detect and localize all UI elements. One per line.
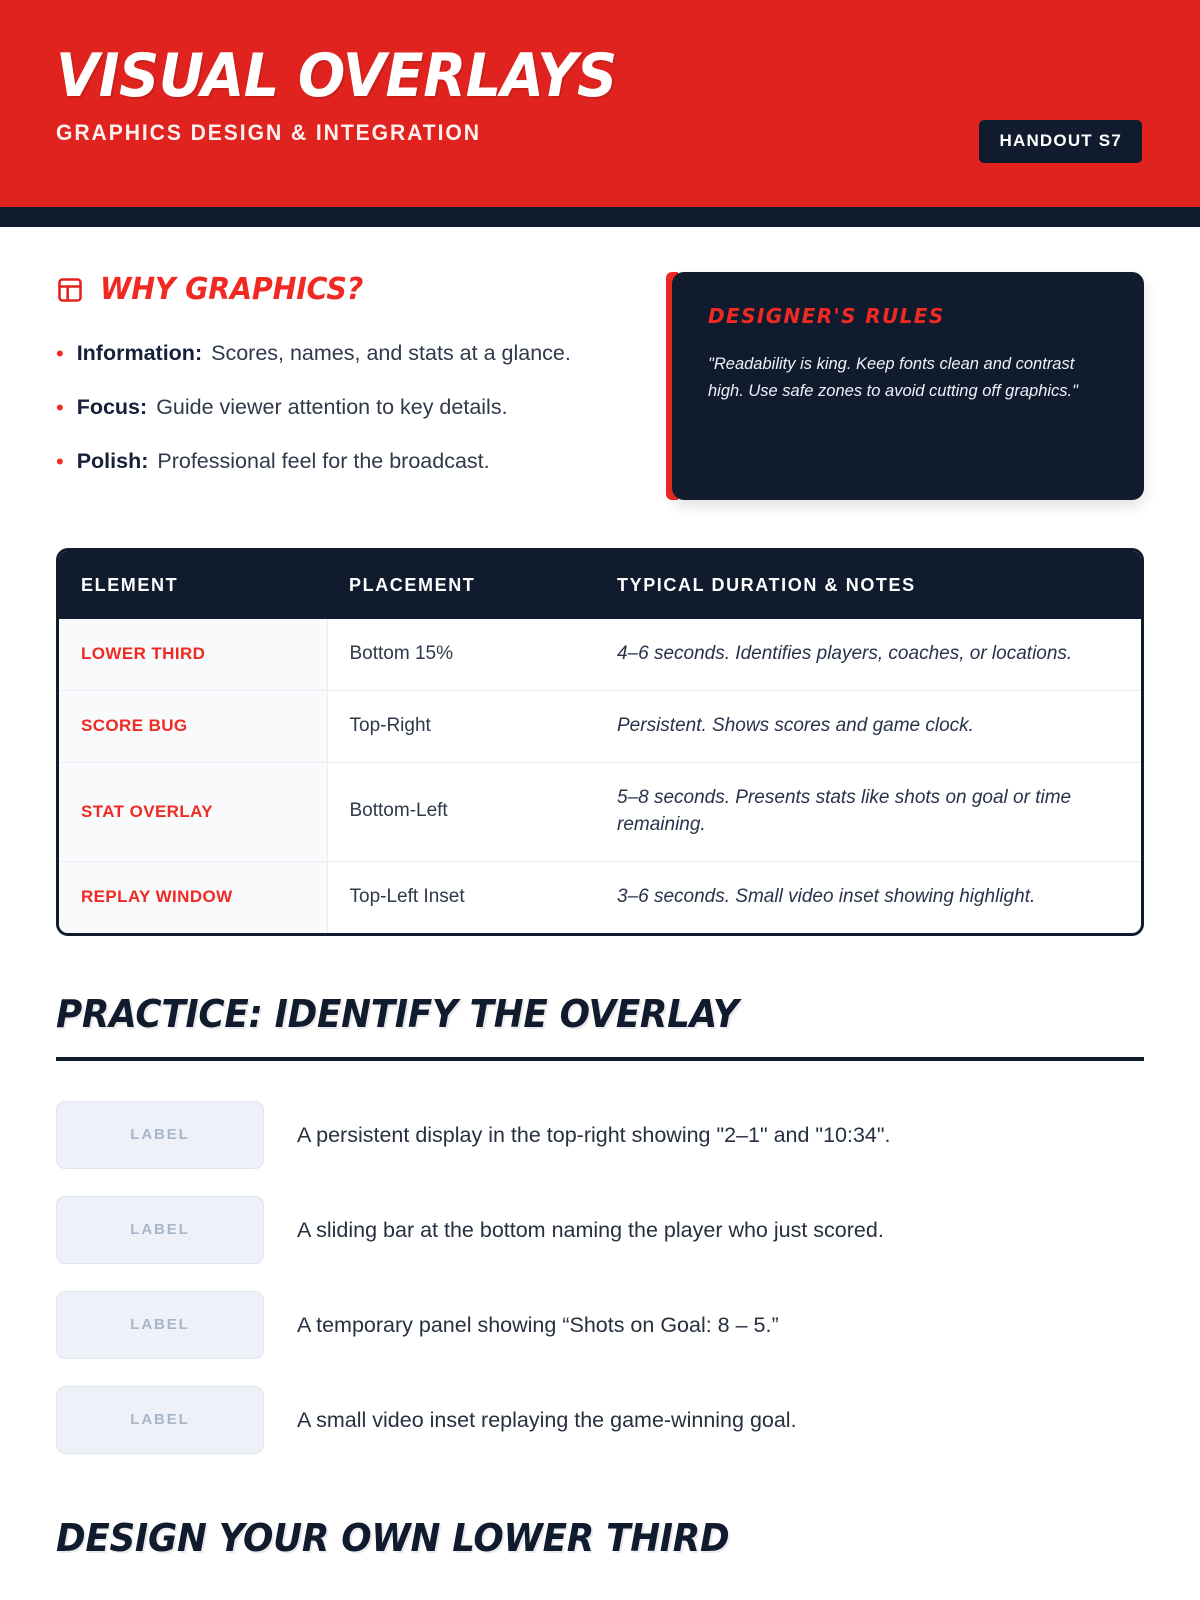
why-graphics-heading: WHY GRAPHICS? xyxy=(56,272,616,307)
cell-notes: 4–6 seconds. Identifies players, coaches… xyxy=(595,619,1141,690)
table-row: LOWER THIRD Bottom 15% 4–6 seconds. Iden… xyxy=(59,619,1141,690)
practice-item: LABEL A small video inset replaying the … xyxy=(56,1386,1144,1454)
list-item-desc: Scores, names, and stats at a glance. xyxy=(211,341,571,365)
why-graphics-column: WHY GRAPHICS? • Information:Scores, name… xyxy=(56,272,616,477)
cell-placement: Top-Right xyxy=(327,690,595,762)
practice-prompt-1: A persistent display in the top-right sh… xyxy=(297,1120,890,1150)
answer-input-4[interactable]: LABEL xyxy=(56,1386,264,1454)
design-section: DESIGN YOUR OWN LOWER THIRD xyxy=(56,1516,1144,1560)
cell-placement: Top-Left Inset xyxy=(327,861,595,932)
cell-element: STAT OVERLAY xyxy=(59,762,327,861)
column-header-notes: TYPICAL DURATION & NOTES xyxy=(595,551,1141,619)
list-item-body: Focus:Guide viewer attention to key deta… xyxy=(77,392,616,424)
design-section-heading: DESIGN YOUR OWN LOWER THIRD xyxy=(56,1516,1079,1560)
designers-rules-card: DESIGNER'S RULES "Readability is king. K… xyxy=(672,272,1144,500)
cell-element: LOWER THIRD xyxy=(59,619,327,690)
list-item-term: Information: xyxy=(77,341,202,365)
handout-page: VISUAL OVERLAYS GRAPHICS DESIGN & INTEGR… xyxy=(0,0,1200,1600)
cell-notes: 5–8 seconds. Presents stats like shots o… xyxy=(595,762,1141,861)
practice-item: LABEL A sliding bar at the bottom naming… xyxy=(56,1196,1144,1264)
practice-items: LABEL A persistent display in the top-ri… xyxy=(56,1101,1144,1454)
practice-prompt-2: A sliding bar at the bottom naming the p… xyxy=(297,1215,884,1245)
handout-badge: HANDOUT S7 xyxy=(979,120,1142,163)
header-accent-bar xyxy=(0,207,1200,227)
list-item-body: Information:Scores, names, and stats at … xyxy=(77,338,616,370)
column-header-placement: PLACEMENT xyxy=(327,551,595,619)
cell-element: REPLAY WINDOW xyxy=(59,861,327,932)
page-subtitle: GRAPHICS DESIGN & INTEGRATION xyxy=(56,120,1100,146)
answer-input-3[interactable]: LABEL xyxy=(56,1291,264,1359)
card-accent-bar xyxy=(666,272,678,500)
practice-item: LABEL A persistent display in the top-ri… xyxy=(56,1101,1144,1169)
practice-prompt-3: A temporary panel showing “Shots on Goal… xyxy=(297,1310,779,1340)
intro-section: WHY GRAPHICS? • Information:Scores, name… xyxy=(56,272,1144,500)
bullet-dot-icon: • xyxy=(56,392,64,423)
page-content: WHY GRAPHICS? • Information:Scores, name… xyxy=(0,272,1200,1560)
page-title: VISUAL OVERLAYS xyxy=(56,46,1068,107)
designers-rules-quote: "Readability is king. Keep fonts clean a… xyxy=(708,351,1108,404)
bullet-dot-icon: • xyxy=(56,338,64,369)
practice-item: LABEL A temporary panel showing “Shots o… xyxy=(56,1291,1144,1359)
column-header-element: ELEMENT xyxy=(59,551,327,619)
table-row: STAT OVERLAY Bottom-Left 5–8 seconds. Pr… xyxy=(59,762,1141,861)
list-item: • Information:Scores, names, and stats a… xyxy=(56,338,616,370)
page-header: VISUAL OVERLAYS GRAPHICS DESIGN & INTEGR… xyxy=(0,0,1200,207)
practice-prompt-4: A small video inset replaying the game-w… xyxy=(297,1405,797,1435)
practice-heading-rule xyxy=(56,1057,1144,1061)
table-row: REPLAY WINDOW Top-Left Inset 3–6 seconds… xyxy=(59,861,1141,932)
designers-rules-title: DESIGNER'S RULES xyxy=(708,304,1108,328)
answer-input-1[interactable]: LABEL xyxy=(56,1101,264,1169)
list-item-body: Polish:Professional feel for the broadca… xyxy=(77,446,616,478)
list-item-desc: Guide viewer attention to key details. xyxy=(156,395,507,419)
list-item: • Polish:Professional feel for the broad… xyxy=(56,446,616,478)
cell-notes: Persistent. Shows scores and game clock. xyxy=(595,690,1141,762)
layout-panel-icon xyxy=(56,276,84,304)
answer-input-2[interactable]: LABEL xyxy=(56,1196,264,1264)
table-header-row: ELEMENT PLACEMENT TYPICAL DURATION & NOT… xyxy=(59,551,1141,619)
cell-placement: Bottom 15% xyxy=(327,619,595,690)
list-item: • Focus:Guide viewer attention to key de… xyxy=(56,392,616,424)
cell-element: SCORE BUG xyxy=(59,690,327,762)
cell-placement: Bottom-Left xyxy=(327,762,595,861)
practice-heading: PRACTICE: IDENTIFY THE OVERLAY xyxy=(56,992,1079,1036)
list-item-term: Polish: xyxy=(77,449,149,473)
overlay-reference-table: ELEMENT PLACEMENT TYPICAL DURATION & NOT… xyxy=(56,548,1144,936)
bullet-dot-icon: • xyxy=(56,446,64,477)
list-item-desc: Professional feel for the broadcast. xyxy=(157,449,489,473)
table-row: SCORE BUG Top-Right Persistent. Shows sc… xyxy=(59,690,1141,762)
why-graphics-list: • Information:Scores, names, and stats a… xyxy=(56,338,616,477)
practice-section: PRACTICE: IDENTIFY THE OVERLAY LABEL A p… xyxy=(56,992,1144,1454)
why-graphics-title: WHY GRAPHICS? xyxy=(100,272,363,307)
cell-notes: 3–6 seconds. Small video inset showing h… xyxy=(595,861,1141,932)
list-item-term: Focus: xyxy=(77,395,147,419)
